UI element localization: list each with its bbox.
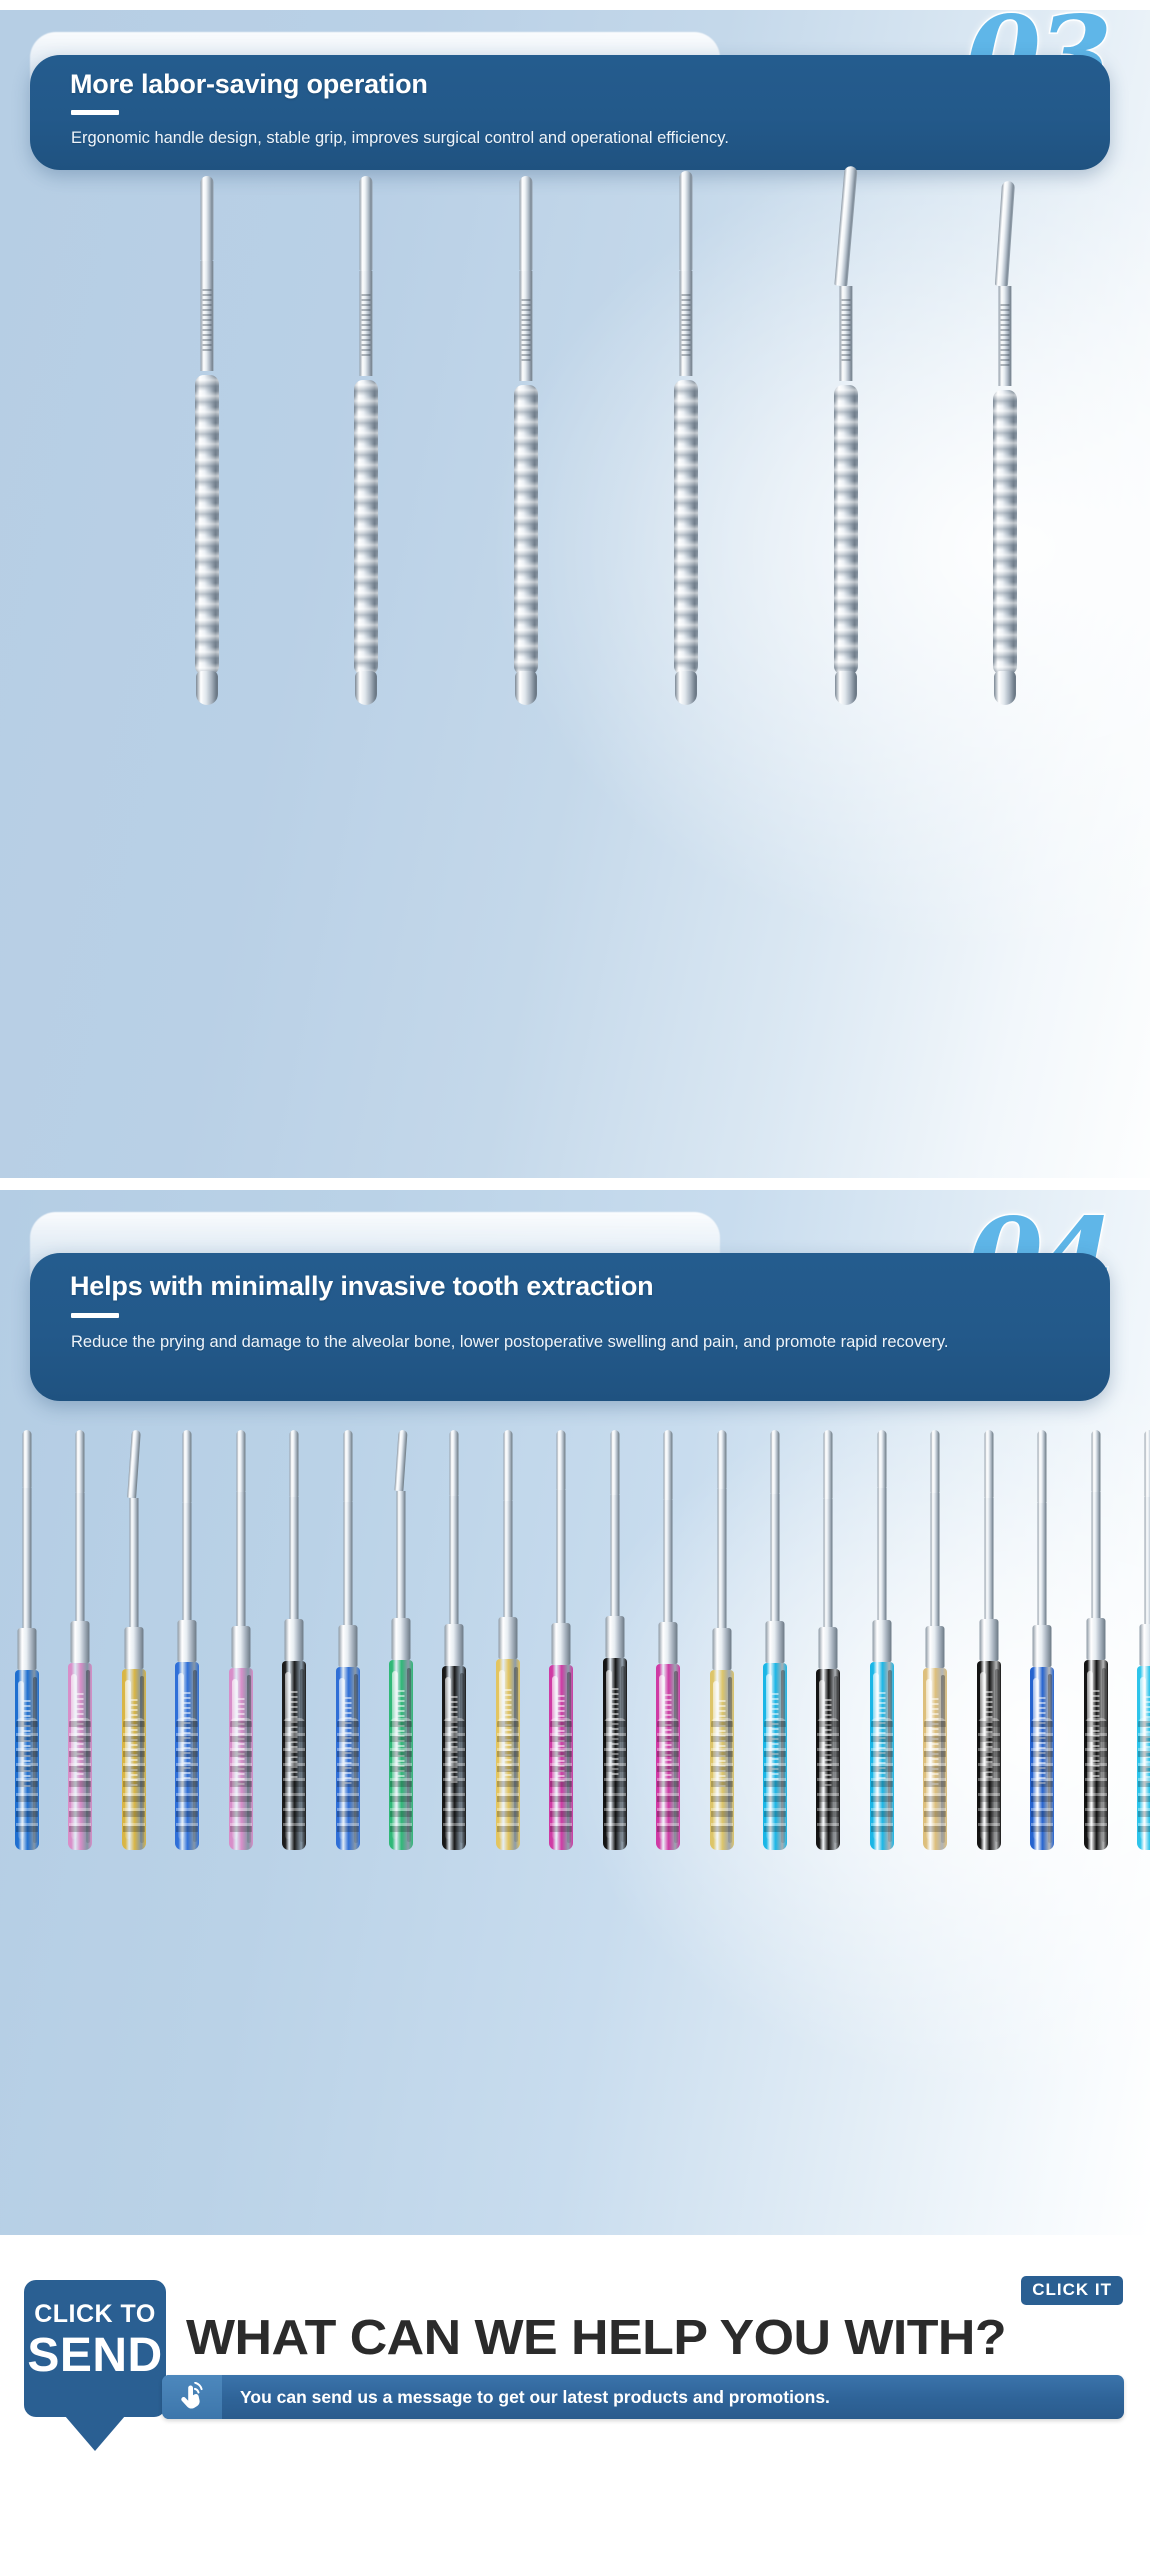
instrument-tip — [236, 1430, 245, 1492]
colored-instrument — [441, 1430, 467, 1850]
title-underline-rule — [71, 1313, 119, 1318]
colored-instrument-photo — [0, 1420, 1150, 1850]
feature-header-card: Helps with minimally invasive tooth extr… — [30, 1253, 1110, 1401]
steel-instrument — [511, 176, 541, 705]
colored-instrument — [281, 1430, 307, 1850]
instrument-tip — [717, 1430, 726, 1489]
colored-instrument — [1136, 1430, 1150, 1850]
instrument-ferrule — [18, 1628, 37, 1670]
steel-instrument-photo — [0, 185, 1150, 705]
instrument-shank — [717, 1489, 726, 1628]
instrument-tip — [679, 171, 692, 271]
bubble-tail — [65, 2416, 125, 2451]
steel-instrument — [351, 176, 381, 705]
colored-instrument — [121, 1430, 147, 1850]
feature-section-04: 04 Helps with minimally invasive tooth e… — [0, 1190, 1150, 2235]
instrument-ferrule — [1086, 1618, 1105, 1660]
instrument-shank — [984, 1498, 993, 1619]
colored-instrument — [869, 1430, 895, 1850]
instrument-shank — [23, 1488, 32, 1628]
instrument-grip-knurl — [443, 1718, 465, 1838]
instrument-tip — [520, 176, 533, 271]
instrument-tip — [343, 1430, 352, 1502]
instrument-tip — [290, 1430, 299, 1497]
instrument-grip-knurl — [817, 1718, 839, 1838]
instrument-grip-knurl — [123, 1718, 145, 1838]
colored-instrument — [174, 1430, 200, 1850]
instrument-handle — [674, 380, 698, 675]
feature-section-03: 03 More labor-saving operation Ergonomic… — [0, 10, 1150, 1178]
colored-instrument — [976, 1430, 1002, 1850]
instrument-tip — [76, 1430, 85, 1493]
instrument-grip-knurl — [337, 1718, 359, 1838]
instrument-shank — [1145, 1497, 1150, 1624]
instrument-ferrule — [1140, 1624, 1150, 1666]
instrument-shank — [236, 1492, 245, 1626]
contact-cta-banner: CLICK TO SEND CLICK IT WHAT CAN WE HELP … — [0, 2262, 1150, 2518]
instrument-ferrule — [1033, 1625, 1052, 1667]
instrument-ferrule — [124, 1627, 143, 1669]
instrument-tip — [1145, 1430, 1150, 1497]
colored-instrument — [922, 1430, 948, 1850]
instrument-tip — [557, 1430, 566, 1490]
colored-instrument — [67, 1430, 93, 1850]
instrument-grip-knurl — [497, 1718, 519, 1838]
instrument-shank — [771, 1494, 780, 1621]
colored-instrument — [815, 1430, 841, 1850]
instrument-ferrule — [659, 1622, 678, 1664]
click-it-badge[interactable]: CLICK IT — [1021, 2276, 1123, 2305]
instrument-tip — [877, 1430, 886, 1488]
instrument-shank — [397, 1491, 406, 1618]
instrument-tip — [931, 1430, 940, 1493]
instrument-engraving — [522, 299, 531, 363]
instrument-tip — [834, 166, 857, 287]
instrument-ferrule — [445, 1624, 464, 1666]
instrument-shank — [877, 1488, 886, 1620]
instrument-tip — [1038, 1430, 1047, 1503]
instrument-ferrule — [392, 1618, 411, 1660]
instrument-shank — [610, 1495, 619, 1616]
bubble-line-1: CLICK TO — [24, 2300, 166, 2329]
instrument-ferrule — [605, 1616, 624, 1658]
colored-instrument — [548, 1430, 574, 1850]
instrument-grip-knurl — [978, 1718, 1000, 1838]
instrument-tip — [450, 1430, 459, 1496]
instrument-grip-knurl — [1085, 1718, 1107, 1838]
instrument-end-cap — [515, 671, 537, 705]
colored-instrument — [14, 1430, 40, 1850]
instrument-ferrule — [552, 1623, 571, 1665]
feature-title: Helps with minimally invasive tooth extr… — [70, 1271, 653, 1302]
instrument-ferrule — [498, 1617, 517, 1659]
instrument-ferrule — [766, 1621, 785, 1663]
instrument-tip — [995, 181, 1015, 287]
instrument-ferrule — [872, 1620, 891, 1662]
instrument-shank — [76, 1493, 85, 1621]
instrument-tip — [183, 1430, 192, 1503]
instrument-ferrule — [926, 1626, 945, 1668]
instrument-tip — [984, 1430, 993, 1498]
instrument-shank — [931, 1493, 940, 1626]
instrument-shank — [450, 1496, 459, 1624]
colored-instrument — [388, 1430, 414, 1850]
instrument-engraving — [1001, 304, 1010, 368]
instrument-tip — [127, 1430, 141, 1498]
instrument-end-cap — [994, 671, 1016, 705]
instrument-grip-knurl — [1031, 1718, 1053, 1838]
colored-instrument — [655, 1430, 681, 1850]
instrument-handle — [514, 385, 538, 675]
instrument-grip-knurl — [764, 1718, 786, 1838]
instrument-handle — [195, 375, 219, 675]
instrument-ferrule — [285, 1619, 304, 1661]
colored-instrument — [602, 1430, 628, 1850]
instrument-tip — [771, 1430, 780, 1494]
feature-description: Reduce the prying and damage to the alve… — [71, 1331, 1066, 1354]
click-to-send-button[interactable]: CLICK TO SEND — [24, 2280, 166, 2417]
instrument-shank — [664, 1500, 673, 1622]
instrument-tip — [200, 176, 213, 261]
instrument-engraving — [841, 299, 850, 363]
instrument-tip — [1091, 1430, 1100, 1492]
instrument-grip-knurl — [871, 1718, 893, 1838]
instrument-ferrule — [979, 1619, 998, 1661]
colored-instrument — [709, 1430, 735, 1850]
instrument-handle — [834, 385, 858, 675]
steel-instrument — [990, 181, 1020, 705]
instrument-grip-knurl — [604, 1718, 626, 1838]
instrument-grip-knurl — [176, 1718, 198, 1838]
instrument-shank — [1038, 1503, 1047, 1625]
instrument-ferrule — [231, 1626, 250, 1668]
instrument-tip — [360, 176, 373, 271]
instrument-shank — [1091, 1492, 1100, 1618]
instrument-grip-knurl — [390, 1718, 412, 1838]
instrument-handle — [993, 390, 1017, 675]
instrument-end-cap — [835, 671, 857, 705]
instrument-shank — [183, 1503, 192, 1620]
instrument-grip-knurl — [16, 1718, 38, 1838]
instrument-grip-knurl — [711, 1718, 733, 1838]
message-prompt-text: You can send us a message to get our lat… — [240, 2375, 1110, 2419]
colored-instrument — [762, 1430, 788, 1850]
instrument-shank — [824, 1499, 833, 1627]
instrument-grip-knurl — [230, 1718, 252, 1838]
instrument-tip — [824, 1430, 833, 1499]
tap-hand-icon — [162, 2375, 222, 2419]
instrument-end-cap — [675, 671, 697, 705]
instrument-handle — [354, 380, 378, 675]
colored-instrument — [495, 1430, 521, 1850]
instrument-shank — [343, 1502, 352, 1625]
instrument-shank — [290, 1497, 299, 1619]
bubble-line-2: SEND — [24, 2332, 166, 2380]
instrument-engraving — [362, 294, 371, 358]
colored-instrument — [1029, 1430, 1055, 1850]
message-prompt-bar[interactable]: You can send us a message to get our lat… — [162, 2375, 1124, 2419]
colored-instrument — [228, 1430, 254, 1850]
instrument-ferrule — [712, 1628, 731, 1670]
instrument-tip — [394, 1430, 407, 1491]
colored-instrument — [335, 1430, 361, 1850]
instrument-tip — [503, 1430, 512, 1501]
instrument-tip — [664, 1430, 673, 1500]
instrument-grip-knurl — [924, 1718, 946, 1838]
instrument-engraving — [681, 294, 690, 358]
feature-description: Ergonomic handle design, stable grip, im… — [71, 127, 1066, 150]
instrument-ferrule — [178, 1620, 197, 1662]
instrument-shank — [557, 1490, 566, 1623]
instrument-grip-knurl — [283, 1718, 305, 1838]
instrument-tip — [610, 1430, 619, 1495]
cta-heading: WHAT CAN WE HELP YOU WITH? — [186, 2310, 1150, 2366]
feature-title: More labor-saving operation — [70, 69, 428, 100]
instrument-shank — [129, 1498, 138, 1627]
instrument-grip-knurl — [550, 1718, 572, 1838]
steel-instrument — [671, 171, 701, 705]
instrument-end-cap — [196, 671, 218, 705]
steel-instrument — [192, 176, 222, 705]
title-underline-rule — [71, 110, 119, 115]
colored-instrument — [1083, 1430, 1109, 1850]
instrument-engraving — [202, 289, 211, 353]
instrument-ferrule — [819, 1627, 838, 1669]
instrument-ferrule — [71, 1621, 90, 1663]
instrument-grip-knurl — [69, 1718, 91, 1838]
instrument-end-cap — [355, 671, 377, 705]
instrument-ferrule — [338, 1625, 357, 1667]
instrument-grip-knurl — [657, 1718, 679, 1838]
steel-instrument — [831, 166, 861, 705]
instrument-tip — [23, 1430, 32, 1488]
instrument-grip-knurl — [1138, 1718, 1150, 1838]
instrument-shank — [503, 1501, 512, 1617]
feature-header-card: More labor-saving operation Ergonomic ha… — [30, 55, 1110, 170]
